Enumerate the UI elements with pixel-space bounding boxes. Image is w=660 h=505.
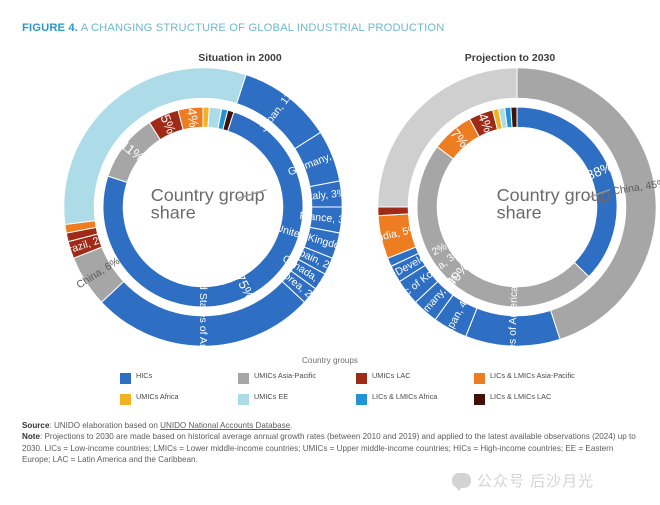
legend-label-umics-africa: UMICs Africa — [136, 393, 179, 401]
outer-slice-label-3: France, 3% — [299, 211, 354, 227]
source-line: Source: UNIDO elaboration based on UNIDO… — [22, 420, 640, 431]
donut-chart-projection-2030: China, 45%United States of America, 11%J… — [372, 62, 660, 352]
legend: Country groups HICs UMICs Asia-Pacific U… — [0, 356, 660, 410]
note-line: Note: Projections to 2030 are made based… — [22, 431, 640, 465]
inner-slice-label-3: 4% — [184, 107, 201, 128]
source-end: . — [290, 421, 292, 430]
source-label: Source — [22, 421, 49, 430]
outer-slice-8[interactable] — [378, 207, 409, 216]
donut-left-svg: Japan, 11%Germany, 6%Italy, 3%France, 3%… — [58, 62, 348, 352]
source-text: : UNIDO elaboration based on — [49, 421, 160, 430]
legend-swatch-hics — [120, 373, 131, 384]
legend-item-hics[interactable]: HICs — [120, 372, 238, 389]
legend-label-lics-lmics-asia-pacific: LICs & LMICs Asia-Pacific — [490, 372, 575, 380]
annotation-left: Country group share — [151, 185, 267, 222]
legend-label-umics-ee: UMICs EE — [254, 393, 288, 401]
legend-item-lics-lmics-lac[interactable]: LICs & LMICs LAC — [474, 393, 592, 410]
legend-label-umics-lac: UMICs LAC — [372, 372, 411, 380]
note-label: Note — [22, 432, 40, 441]
legend-title: Country groups — [0, 356, 660, 365]
inner-slice-7[interactable] — [511, 107, 517, 127]
legend-item-umics-lac[interactable]: UMICs LAC — [356, 372, 474, 389]
legend-label-umics-asia-pacific: UMICs Asia-Pacific — [254, 372, 316, 380]
watermark: 公众号 后沙月光 — [452, 470, 594, 491]
legend-label-lics-lmics-lac: LICs & LMICs LAC — [490, 393, 551, 401]
legend-swatch-umics-lac — [356, 373, 367, 384]
watermark-text: 公众号 后沙月光 — [477, 470, 594, 491]
legend-swatch-lics-lmics-asia-pacific — [474, 373, 485, 384]
legend-grid: HICs UMICs Asia-Pacific UMICs LAC LICs &… — [120, 372, 540, 410]
figure-title-text: A CHANGING STRUCTURE OF GLOBAL INDUSTRIA… — [81, 22, 445, 34]
legend-swatch-umics-asia-pacific — [238, 373, 249, 384]
legend-label-hics: HICs — [136, 372, 152, 380]
legend-swatch-lics-lmics-africa — [356, 394, 367, 405]
note-text: : Projections to 2030 are made based on … — [22, 432, 636, 464]
figure-title: FIGURE 4. A CHANGING STRUCTURE OF GLOBAL… — [22, 22, 444, 34]
source-link[interactable]: UNIDO National Accounts Database — [160, 421, 290, 430]
legend-item-umics-ee[interactable]: UMICs EE — [238, 393, 356, 410]
annotation-left-line2: share — [151, 203, 196, 223]
legend-label-lics-lmics-africa: LICs & LMICs Africa — [372, 393, 437, 401]
figure-number: FIGURE 4. — [22, 22, 78, 34]
annotation-right-line2: share — [497, 203, 542, 223]
legend-item-lics-lmics-asia-pacific[interactable]: LICs & LMICs Asia-Pacific — [474, 372, 592, 389]
annotation-right: Country group share — [497, 185, 611, 222]
legend-item-umics-asia-pacific[interactable]: UMICs Asia-Pacific — [238, 372, 356, 389]
legend-swatch-lics-lmics-lac — [474, 394, 485, 405]
footnotes: Source: UNIDO elaboration based on UNIDO… — [22, 420, 640, 466]
donut-chart-situation-2000: Japan, 11%Germany, 6%Italy, 3%France, 3%… — [58, 62, 348, 352]
legend-item-lics-lmics-africa[interactable]: LICs & LMICs Africa — [356, 393, 474, 410]
legend-swatch-umics-ee — [238, 394, 249, 405]
legend-item-umics-africa[interactable]: UMICs Africa — [120, 393, 238, 410]
legend-swatch-umics-africa — [120, 394, 131, 405]
wechat-icon — [452, 473, 471, 488]
donut-right-svg: China, 45%United States of America, 11%J… — [372, 62, 660, 352]
